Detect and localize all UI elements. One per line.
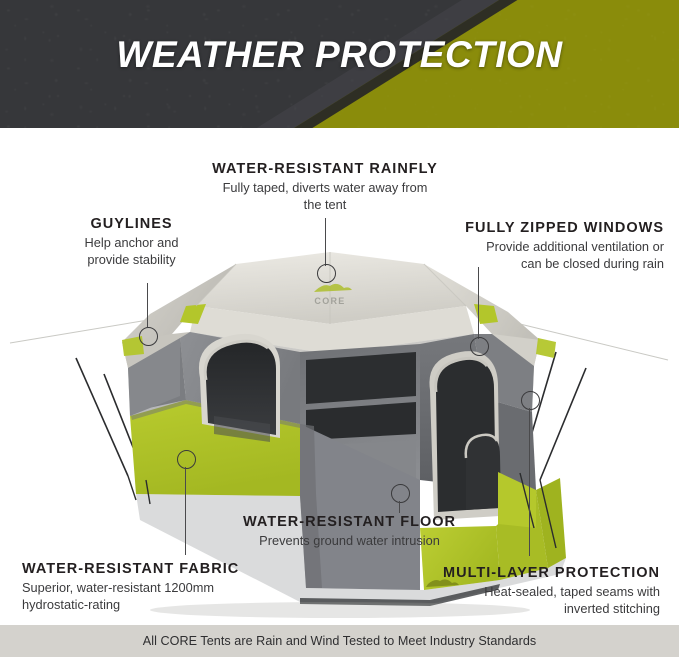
callout-rainfly-title: WATER-RESISTANT RAINFLY [180,160,470,178]
callout-fully-zipped-windows: FULLY ZIPPED WINDOWS Provide additional … [392,219,664,273]
callout-floor-title: WATER-RESISTANT FLOOR [222,513,477,531]
callout-fabric-title: WATER-RESISTANT FABRIC [22,560,292,578]
callout-rainfly-desc-line2: the tent [180,197,470,214]
callout-rainfly-desc-line1: Fully taped, diverts water away from [180,180,470,197]
callout-windows-title: FULLY ZIPPED WINDOWS [392,219,664,237]
leader-line-guylines [147,283,148,327]
leader-line-rainfly [325,218,326,266]
target-circle-windows [470,337,489,356]
callout-multi-layer-protection: MULTI-LAYER PROTECTION Heat-sealed, tape… [372,564,660,618]
leader-line-floor [399,501,400,513]
leader-line-multilayer [529,408,530,556]
right-side-window [462,419,504,510]
header-banner: WEATHER PROTECTION [0,0,679,128]
weather-protection-infographic: WEATHER PROTECTION [0,0,679,657]
callout-windows-desc-line2: can be closed during rain [392,256,664,273]
callout-fabric-desc-line1: Superior, water-resistant 1200mm [22,580,292,597]
callout-water-resistant-floor: WATER-RESISTANT FLOOR Prevents ground wa… [222,513,477,550]
callout-multilayer-desc-line1: Heat-sealed, taped seams with [372,584,660,601]
callout-water-resistant-rainfly: WATER-RESISTANT RAINFLY Fully taped, div… [180,160,470,214]
footer-bar: All CORE Tents are Rain and Wind Tested … [0,625,679,657]
callout-multilayer-desc-line2: inverted stitching [372,601,660,618]
callout-windows-desc-line1: Provide additional ventilation or [392,239,664,256]
callout-fabric-desc-line2: hydrostatic-rating [22,597,292,614]
target-circle-rainfly [317,264,336,283]
footer-text: All CORE Tents are Rain and Wind Tested … [143,634,536,648]
callout-floor-desc-line1: Prevents ground water intrusion [222,533,477,550]
target-circle-guylines [139,327,158,346]
target-circle-floor [391,484,410,503]
svg-text:CORE: CORE [314,296,345,306]
callout-guylines-desc-line2: provide stability [44,252,219,269]
callout-multilayer-title: MULTI-LAYER PROTECTION [372,564,660,582]
callout-guylines-desc-line1: Help anchor and [44,235,219,252]
banner-title: WEATHER PROTECTION [0,36,679,75]
callout-guylines: GUYLINES Help anchor and provide stabili… [44,215,219,269]
leader-line-windows [478,267,479,339]
callout-guylines-title: GUYLINES [44,215,219,233]
callout-water-resistant-fabric: WATER-RESISTANT FABRIC Superior, water-r… [22,560,292,614]
leader-line-fabric [185,467,186,555]
target-circle-multilayer [521,391,540,410]
target-circle-fabric [177,450,196,469]
